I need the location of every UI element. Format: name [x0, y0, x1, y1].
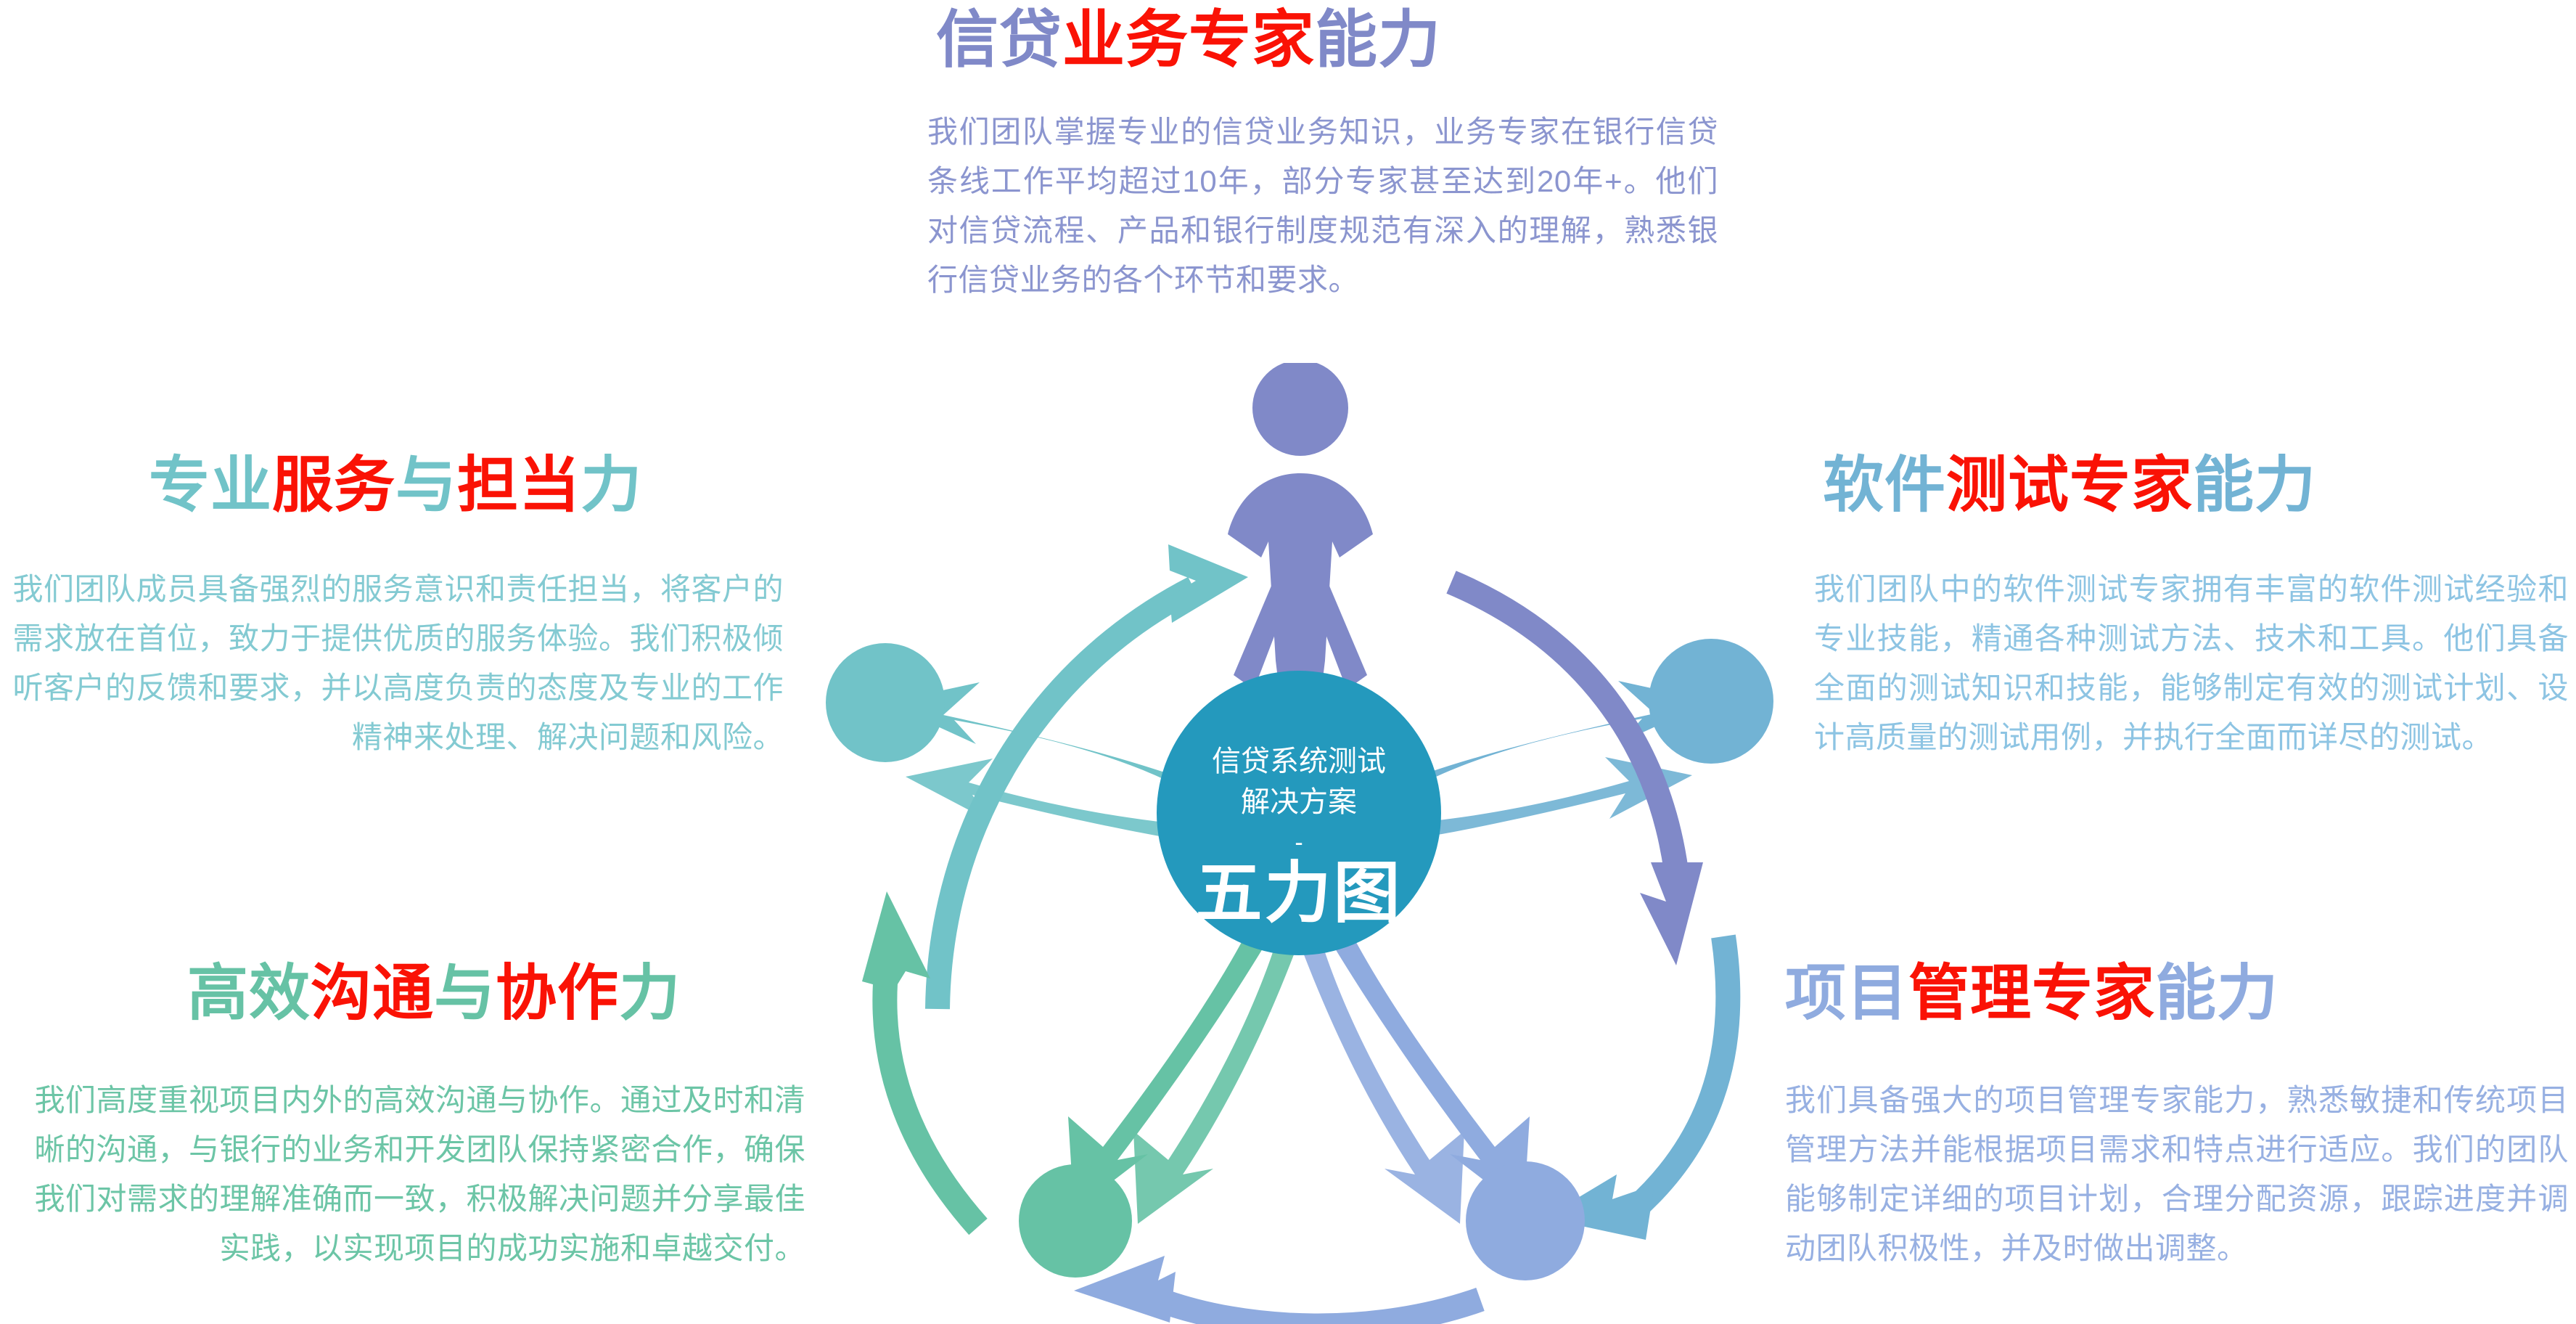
- title-part: 信贷: [936, 5, 1062, 75]
- section-body-left-bottom: 我们高度重视项目内外的高效沟通与协作。通过及时和清晰的沟通，与银行的业务和开发团…: [25, 1076, 805, 1273]
- title-part: 与: [434, 959, 496, 1027]
- title-part: 力: [581, 451, 642, 519]
- node-right-circle[interactable]: [1649, 639, 1773, 764]
- title-part: 能力: [2193, 451, 2316, 519]
- infographic-page: 信贷业务专家能力 我们团队掌握专业的信贷业务知识，业务专家在银行信贷条线工作平均…: [0, 0, 2576, 1324]
- title-part-highlight: 协作: [496, 959, 619, 1027]
- section-title-top: 信贷业务专家能力: [936, 6, 1441, 75]
- arc-bottom-right-to-bottom-left-arrow: [1074, 1256, 1480, 1324]
- center-label-dash: -: [1295, 829, 1303, 857]
- title-part: 与: [395, 451, 457, 519]
- title-part: 能力: [1315, 5, 1441, 75]
- title-part: 能力: [2155, 959, 2278, 1027]
- title-part-highlight: 管理专家: [1908, 959, 2155, 1027]
- node-bottom-right-circle[interactable]: [1466, 1161, 1585, 1280]
- title-part: 力: [619, 959, 681, 1027]
- title-part-highlight: 沟通: [311, 959, 434, 1027]
- section-title-right-bottom: 项目管理专家能力: [1785, 960, 2278, 1026]
- arc-bottom-left-to-left-arrow: [862, 891, 978, 1227]
- title-part-highlight: 测试专家: [1946, 451, 2193, 519]
- node-left-circle[interactable]: [826, 643, 945, 762]
- title-part: 高效: [187, 959, 311, 1027]
- title-part-highlight: 业务专家: [1062, 5, 1315, 75]
- center-label-line2: 解决方案: [1241, 786, 1357, 818]
- center-label-line1: 信贷系统测试: [1212, 745, 1386, 777]
- node-bottom-left-circle[interactable]: [1019, 1164, 1132, 1278]
- center-label-line3: 五力图: [1195, 857, 1402, 931]
- section-body-right-top: 我们团队中的软件测试专家拥有丰富的软件测试经验和专业技能，精通各种测试方法、技术…: [1814, 565, 2569, 762]
- title-part-highlight: 担当: [457, 451, 581, 519]
- section-body-right-bottom: 我们具备强大的项目管理专家能力，熟悉敏捷和传统项目管理方法并能根据项目需求和特点…: [1785, 1076, 2569, 1273]
- section-title-left-bottom: 高效沟通与协作力: [187, 960, 681, 1026]
- title-part: 专业: [149, 451, 272, 519]
- section-body-top: 我们团队掌握专业的信贷业务知识，业务专家在银行信贷条线工作平均超过10年，部分专…: [927, 107, 1718, 305]
- section-title-left-top: 专业服务与担当力: [149, 451, 642, 518]
- title-part: 软件: [1823, 451, 1946, 519]
- title-part-highlight: 服务: [272, 451, 395, 519]
- section-body-left-top: 我们团队成员具备强烈的服务意识和责任担当，将客户的需求放在首位，致力于提供优质的…: [7, 565, 784, 762]
- five-force-diagram: 信贷系统测试 解决方案 - 五力图: [798, 363, 1800, 1324]
- title-part: 项目: [1785, 959, 1908, 1027]
- section-title-right-top: 软件测试专家能力: [1823, 451, 2316, 518]
